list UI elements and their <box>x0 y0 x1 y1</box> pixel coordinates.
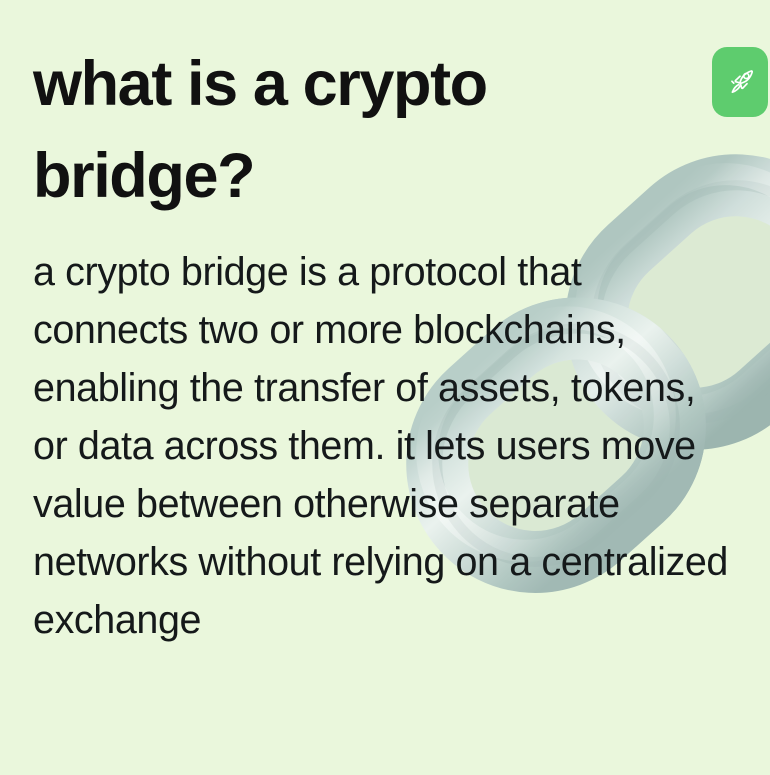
rocket-icon <box>724 65 758 99</box>
page-title: what is a crypto bridge? <box>33 38 693 222</box>
text-content: what is a crypto bridge? a crypto bridge… <box>0 0 770 775</box>
rocket-badge[interactable] <box>712 47 768 117</box>
body-paragraph: a crypto bridge is a protocol that conne… <box>33 243 733 649</box>
crypto-bridge-card: what is a crypto bridge? a crypto bridge… <box>0 0 770 775</box>
